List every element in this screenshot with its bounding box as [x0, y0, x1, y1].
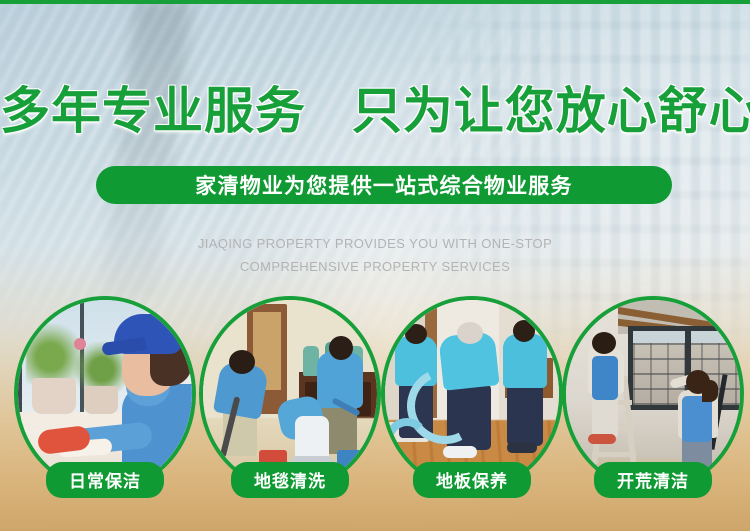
service-item-floor-maintenance[interactable]: 地板保养: [381, 296, 563, 492]
subtitle-pill-text: 家清物业为您提供一站式综合物业服务: [195, 170, 572, 200]
promo-banner: 多年专业服务 只为让您放心舒心 家清物业为您提供一站式综合物业服务 JIAQIN…: [0, 0, 750, 531]
top-accent-bar: [0, 0, 750, 4]
service-label-carpet-washing: 地毯清洗: [231, 462, 349, 498]
english-subtitle-line-1: JIAQING PROPERTY PROVIDES YOU WITH ONE-S…: [0, 232, 750, 255]
subtitle-pill: 家清物业为您提供一站式综合物业服务: [96, 166, 672, 204]
service-label-floor-maintenance: 地板保养: [413, 462, 531, 498]
headline-part-2: 只为让您放心舒心: [352, 83, 750, 139]
english-subtitle-line-2: COMPREHENSIVE PROPERTY SERVICES: [0, 255, 750, 278]
page-title: 多年专业服务 只为让您放心舒心: [0, 82, 750, 140]
service-circle-row: 日常保洁 地毯清洗: [0, 296, 750, 496]
service-label-daily-cleaning: 日常保洁: [46, 462, 164, 498]
service-item-daily-cleaning[interactable]: 日常保洁: [14, 296, 196, 492]
headline-part-1: 多年专业服务: [0, 83, 306, 139]
english-subtitle: JIAQING PROPERTY PROVIDES YOU WITH ONE-S…: [0, 232, 750, 278]
service-item-carpet-washing[interactable]: 地毯清洗: [199, 296, 381, 492]
service-label-rough-cleaning: 开荒清洁: [594, 462, 712, 498]
service-item-rough-cleaning[interactable]: 开荒清洁: [562, 296, 744, 492]
